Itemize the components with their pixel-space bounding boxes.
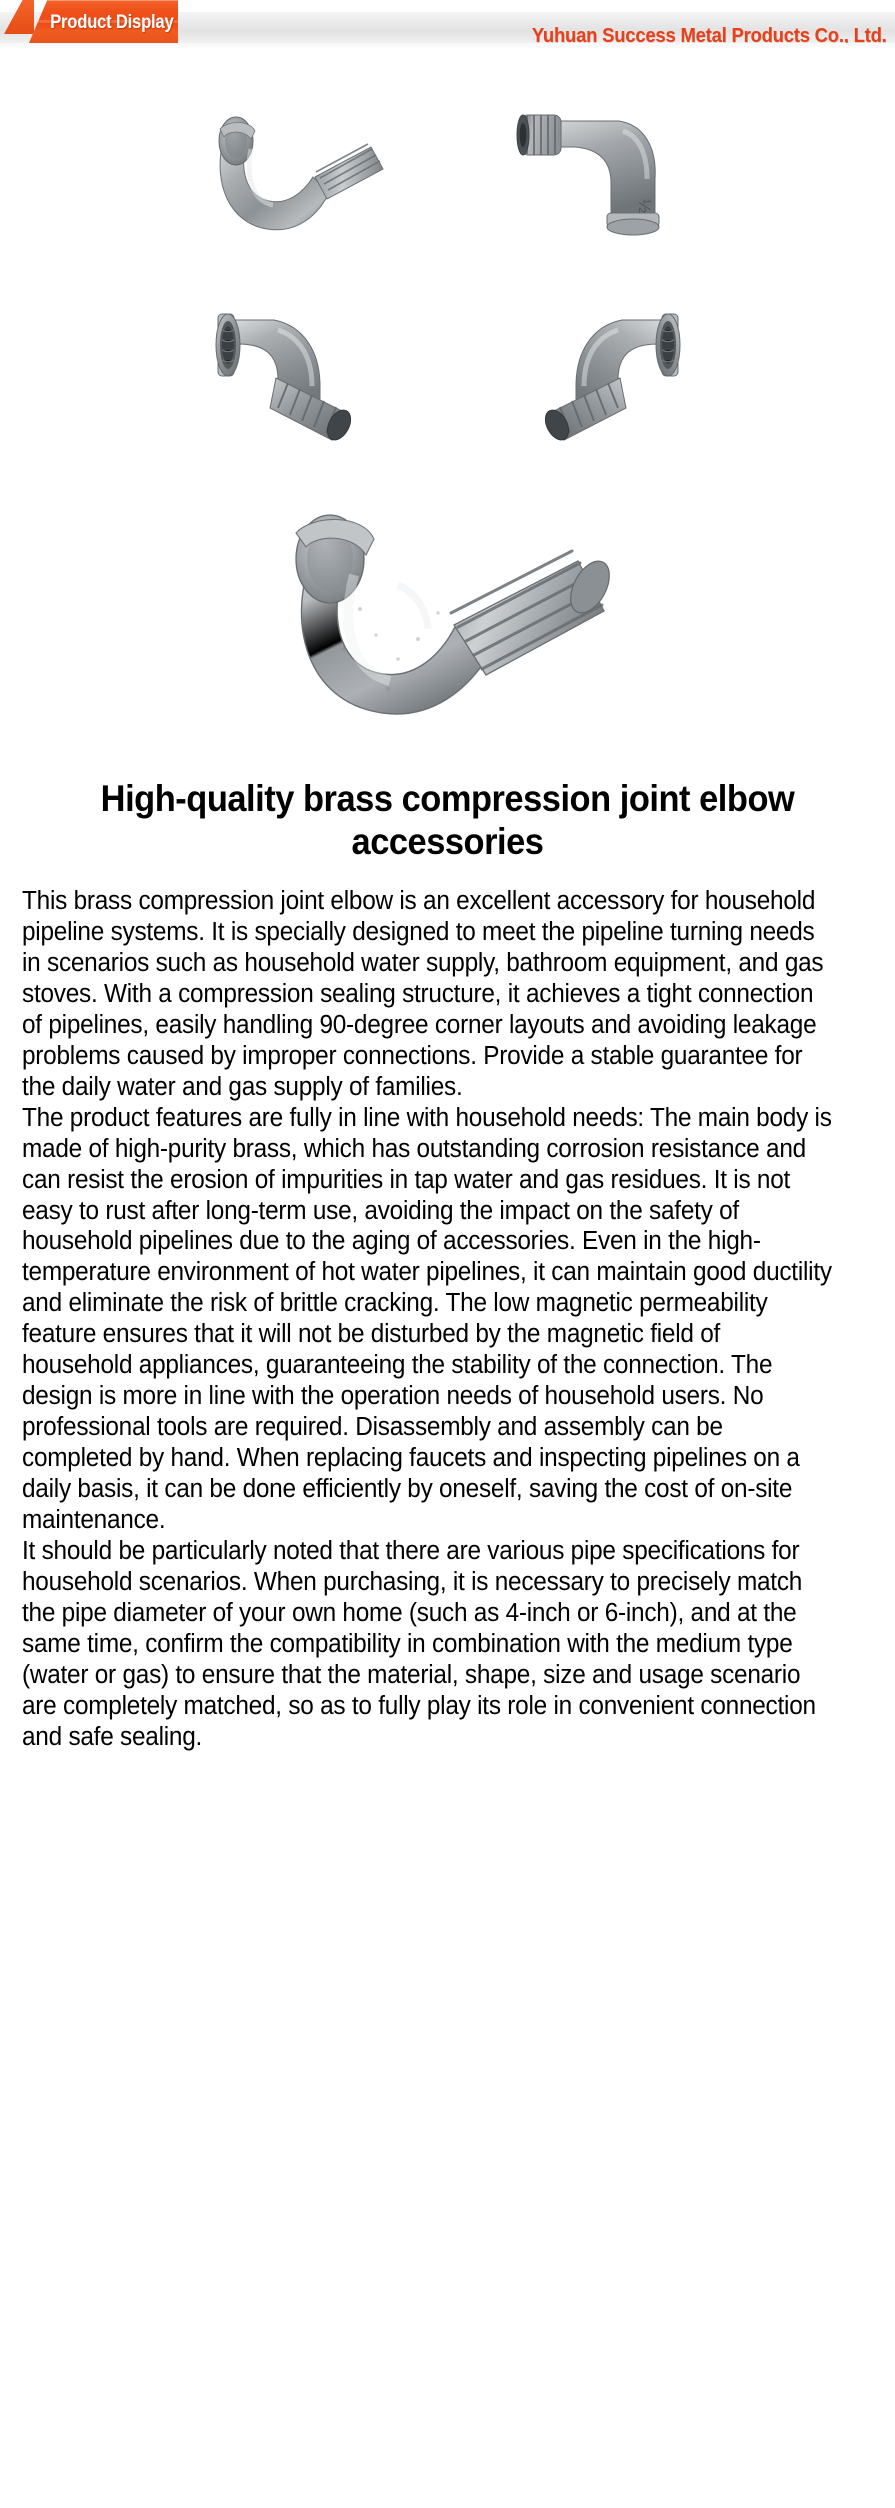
description-paragraph-1: This brass compression joint elbow is an… [22,886,835,1103]
gallery-row-3 [0,484,895,774]
product-image-2[interactable]: ½ [515,87,700,262]
product-gallery: ½ [0,50,895,774]
galvanized-elbow-illustration [508,304,688,464]
gallery-row-1: ½ [0,64,895,284]
galvanized-elbow-illustration-large [248,489,648,769]
product-image-1[interactable] [195,89,395,259]
product-description-section: High-quality brass compression joint elb… [0,774,895,1781]
galvanized-elbow-illustration [208,304,388,464]
description-body: This brass compression joint elbow is an… [22,886,873,1753]
product-image-3[interactable] [208,304,388,464]
page-header: Product Display Yuhuan Success Metal Pro… [0,0,895,50]
description-paragraph-2: The product features are fully in line w… [22,1103,835,1537]
header-bottom-strip [0,43,895,50]
page-title: High-quality brass compression joint elb… [52,778,843,864]
size-marking: ½ [635,199,654,213]
gallery-row-2 [0,284,895,484]
product-image-5[interactable] [248,489,648,769]
description-paragraph-3: It should be particularly noted that the… [22,1536,835,1753]
galvanized-elbow-illustration: ½ [515,87,700,262]
product-image-4[interactable] [508,304,688,464]
galvanized-elbow-illustration [195,89,395,259]
product-display-tab-label: Product Display [50,12,170,34]
